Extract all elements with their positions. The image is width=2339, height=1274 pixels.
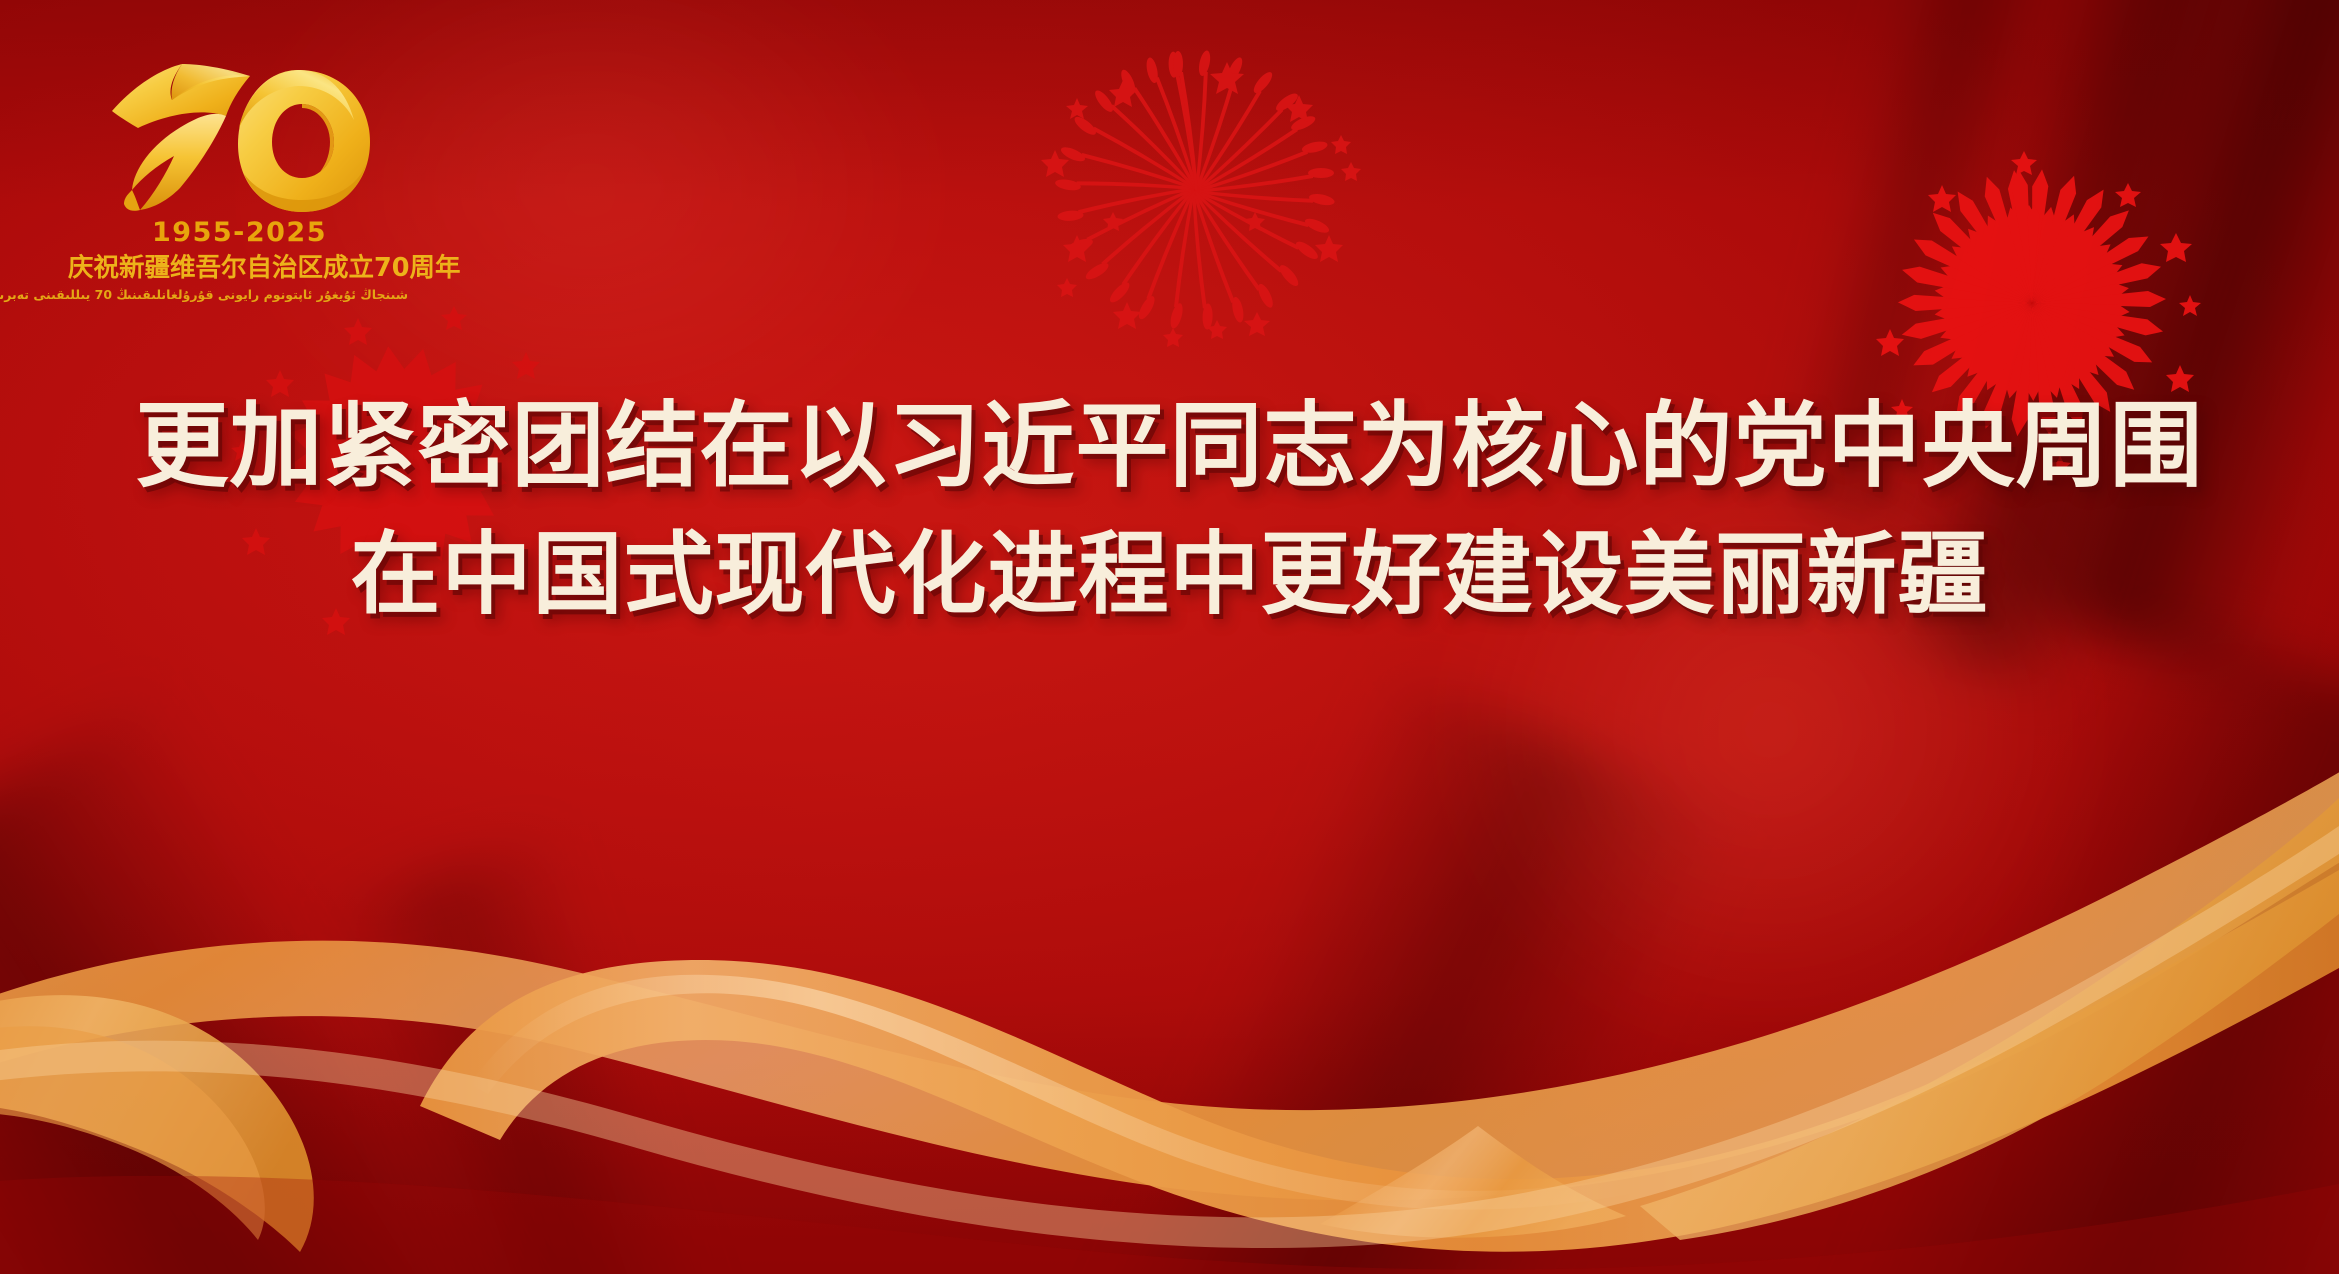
anniversary-slogan-cn: 庆祝新疆维吾尔自治区成立70周年 xyxy=(68,255,408,282)
anniversary-years: 1955-2025 xyxy=(152,219,408,246)
poster-canvas: 1955-2025 庆祝新疆维吾尔自治区成立70周年 شىنجاڭ ئۇيغۇر… xyxy=(0,0,2339,1274)
anniversary-logo: 1955-2025 庆祝新疆维吾尔自治区成立70周年 شىنجاڭ ئۇيغۇر… xyxy=(68,48,408,302)
headline-line-1: 更加紧密团结在以习近平同志为核心的党中央周围 xyxy=(0,388,2339,509)
headline-line-2: 在中国式现代化进程中更好建设美丽新疆 xyxy=(0,517,2339,634)
seventy-numeral-icon xyxy=(98,48,378,223)
anniversary-slogan-ug: شىنجاڭ ئۇيغۇر ئاپتونوم رايونى قۇرۇلغانلى… xyxy=(68,287,408,303)
headline-block: 更加紧密团结在以习近平同志为核心的党中央周围 在中国式现代化进程中更好建设美丽新… xyxy=(0,388,2339,634)
